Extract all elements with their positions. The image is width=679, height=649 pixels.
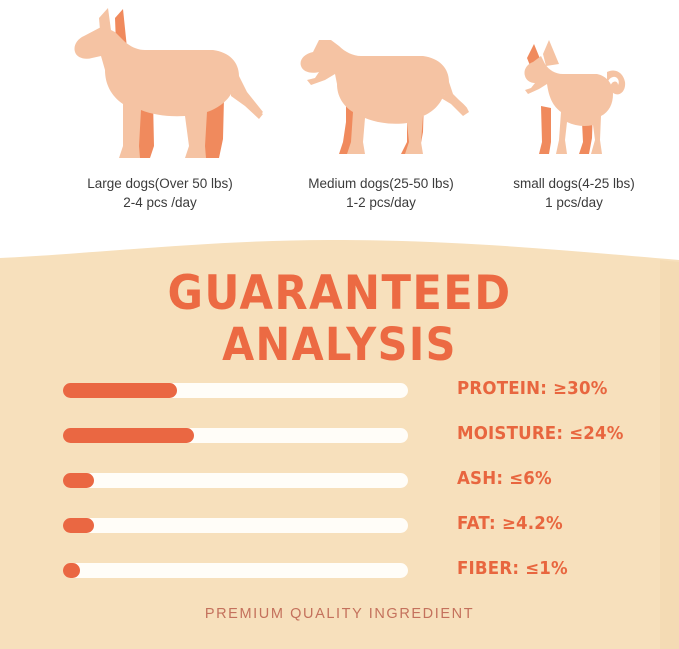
dog-size-label: small dogs(4-25 lbs)	[513, 176, 635, 191]
nutrient-bar-fill	[63, 428, 194, 443]
nutrient-row: PROTEIN: ≥30%	[0, 372, 679, 417]
feeding-guide-column-small: small dogs(4-25 lbs) 1 pcs/day	[474, 6, 674, 212]
feeding-guide-caption-medium: Medium dogs(25-50 lbs) 1-2 pcs/day	[276, 174, 486, 212]
nutrient-row: FAT: ≥4.2%	[0, 507, 679, 552]
feeding-guide-section: Large dogs(Over 50 lbs) 2-4 pcs /day	[0, 0, 679, 240]
nutrient-row: ASH: ≤6%	[0, 462, 679, 507]
analysis-title: GUARANTEED ANALYSIS	[0, 268, 679, 370]
large-dog-silhouette-icon	[53, 6, 268, 172]
nutrient-bar-track	[63, 518, 408, 533]
nutrient-bar-fill	[63, 383, 177, 398]
analysis-title-line-2: ANALYSIS	[27, 319, 652, 370]
nutrient-bar-track	[63, 473, 408, 488]
nutrient-rows: PROTEIN: ≥30% MOISTURE: ≤24% ASH: ≤6%	[0, 372, 679, 597]
feeding-guide-caption-large: Large dogs(Over 50 lbs) 2-4 pcs /day	[30, 174, 290, 212]
nutrient-label: MOISTURE: ≤24%	[457, 421, 624, 448]
nutrient-bar-track	[63, 383, 408, 398]
feeding-guide-caption-small: small dogs(4-25 lbs) 1 pcs/day	[474, 174, 674, 212]
medium-dog-silhouette-icon	[291, 6, 471, 172]
nutrient-bar-fill	[63, 518, 94, 533]
nutrient-bar-track	[63, 563, 408, 578]
dog-serving-label: 2-4 pcs /day	[30, 193, 290, 212]
nutrient-bar-fill	[63, 473, 94, 488]
dog-serving-label: 1-2 pcs/day	[276, 193, 486, 212]
small-dog-silhouette-icon	[519, 6, 629, 172]
feeding-guide-column-large: Large dogs(Over 50 lbs) 2-4 pcs /day	[30, 6, 290, 212]
nutrient-label: FIBER: ≤1%	[457, 556, 568, 583]
nutrient-label: FAT: ≥4.2%	[457, 511, 563, 538]
dog-serving-label: 1 pcs/day	[474, 193, 674, 212]
dog-size-label: Large dogs(Over 50 lbs)	[87, 176, 233, 191]
analysis-title-line-1: GUARANTEED	[27, 268, 652, 319]
feeding-guide-column-medium: Medium dogs(25-50 lbs) 1-2 pcs/day	[276, 6, 486, 212]
guaranteed-analysis-panel: GUARANTEED ANALYSIS PROTEIN: ≥30% MOISTU…	[0, 236, 679, 649]
nutrient-label: PROTEIN: ≥30%	[457, 376, 608, 403]
infographic-page: Large dogs(Over 50 lbs) 2-4 pcs /day	[0, 0, 679, 649]
nutrient-bar-track	[63, 428, 408, 443]
nutrient-row: FIBER: ≤1%	[0, 552, 679, 597]
premium-quality-tagline: PREMIUM QUALITY INGREDIENT	[0, 606, 679, 622]
nutrient-label: ASH: ≤6%	[457, 466, 552, 493]
dog-size-label: Medium dogs(25-50 lbs)	[308, 176, 454, 191]
nutrient-row: MOISTURE: ≤24%	[0, 417, 679, 462]
nutrient-bar-fill	[63, 563, 80, 578]
